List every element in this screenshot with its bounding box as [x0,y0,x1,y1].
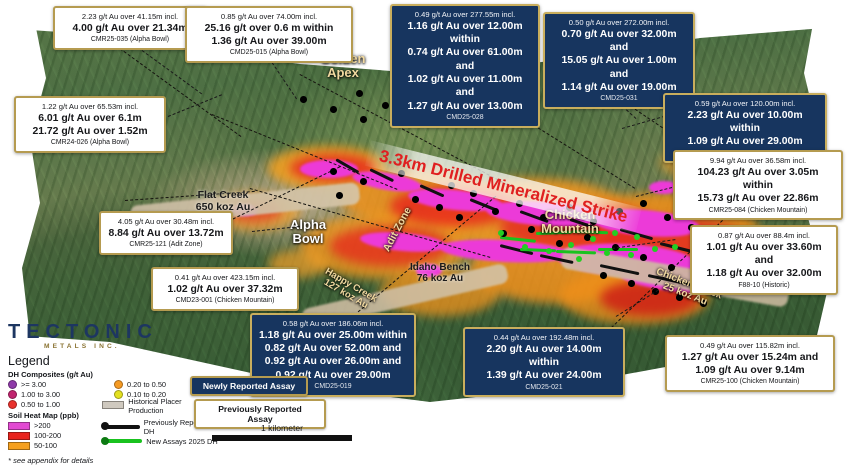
legend-item-soil: >200 [8,421,98,430]
hole-id: CMR25-084 (Chicken Mountain) [682,207,834,216]
hole-id: CMR25-100 (Chicken Mountain) [674,378,826,387]
hole-id: CMD25-021 [472,384,616,393]
assay-line-highlight: 15.05 g/t Au over 1.00m and [552,54,686,81]
assay-line: 0.41 g/t Au over 423.15m incl. [160,273,290,283]
soil-swatch-icon [8,422,30,430]
legend-item-dh: >= 3.00 [8,380,104,389]
assay-line: 0.87 g/t Au over 88.4m incl. [699,231,829,241]
legend-item-soil: 100-200 [8,431,98,440]
assay-line: 0.58 g/t Au over 186.06m incl. [259,319,407,329]
assay-line-highlight: 0.82 g/t Au over 52.00m and [259,342,407,355]
drill-collar-dot [436,204,443,211]
legend-footnote: * see appendix for details [8,456,218,465]
company-logo: TECTONIC METALS INC. [8,322,218,350]
assay-callout-cmr24-026[interactable]: 1.22 g/t Au over 65.53m incl. 6.01 g/t A… [14,96,166,153]
soil-swatch-icon [8,442,30,450]
assay-line-highlight: 1.39 g/t Au over 24.00m [472,369,616,382]
drill-collar-dot [412,196,419,203]
legend-item-dh: 1.00 to 3.00 [8,390,104,399]
assay-line-highlight: 15.73 g/t Au over 22.86m [682,192,834,205]
assay-line: 1.22 g/t Au over 65.53m incl. [23,102,157,112]
assay-line: 0.49 g/t Au over 115.82m incl. [674,341,826,351]
assay-callout-cmr25-121[interactable]: 4.05 g/t Au over 30.48m incl. 8.84 g/t A… [99,211,233,255]
legend-label: 0.50 to 1.00 [21,400,60,409]
scale-bar-line [212,435,352,441]
assay-line-highlight: 0.70 g/t Au over 32.00m and [552,28,686,55]
drill-collar-dot [640,200,647,207]
legend-title: Legend [8,354,218,368]
assay-line-highlight: 6.01 g/t Au over 6.1m [23,112,157,125]
drill-collar-dot [382,102,389,109]
hole-id: CMD25-028 [399,114,531,123]
assay-line-highlight: 2.20 g/t Au over 14.00m within [472,343,616,370]
assay-callout-cmr25-035[interactable]: 2.23 g/t Au over 41.15m incl. 4.00 g/t A… [53,6,207,50]
drill-collar-dot [336,192,343,199]
scale-bar-label: 1 kilometer [212,423,352,433]
dh-swatch-icon [8,380,17,389]
assay-line-highlight: 1.18 g/t Au over 32.00m [699,267,829,280]
assay-callout-cmd25-028[interactable]: 0.49 g/t Au over 277.55m incl. 1.16 g/t … [390,4,540,128]
legend-label: Historical Placer Production [128,397,181,416]
assay-line-highlight: 1.09 g/t Au over 29.00m [672,135,818,148]
assay-line-highlight: 1.02 g/t Au over 11.00m and [399,73,531,100]
drill-collar-dot [600,272,607,279]
assay-line: 0.50 g/t Au over 272.00m incl. [552,18,686,28]
legend-label: 100-200 [34,431,61,440]
assay-line: 0.85 g/t Au over 74.00m incl. [194,12,344,22]
assay-line-highlight: 1.09 g/t Au over 9.14m [674,364,826,377]
assay-line-highlight: 1.01 g/t Au over 33.60m and [699,241,829,268]
hole-id: CMR25-121 (Adit Zone) [108,241,224,250]
assay-line-highlight: 4.00 g/t Au over 21.34m [62,22,198,35]
drill-collar-dot [356,90,363,97]
hole-id: CMR24-026 (Alpha Bowl) [23,139,157,148]
assay-callout-cmr25-084[interactable]: 9.94 g/t Au over 36.58m incl. 104.23 g/t… [673,150,843,220]
drill-collar-dot [330,168,337,175]
assay-line: 0.59 g/t Au over 120.00m incl. [672,99,818,109]
assay-line-highlight: 21.72 g/t Au over 1.52m [23,125,157,138]
assay-line-highlight: 8.84 g/t Au over 13.72m [108,227,224,240]
assay-line: 0.44 g/t Au over 192.48m incl. [472,333,616,343]
assay-line-highlight: 1.02 g/t Au over 37.32m [160,283,290,296]
soil-swatch-icon [8,432,30,440]
hole-id: F88-10 (Historic) [699,282,829,291]
scale-bar: 1 kilometer [212,423,352,441]
legend-item-dh-new: New Assays 2025 DH [102,437,218,446]
dh-swatch-icon [8,390,17,399]
drill-collar-dot [330,106,337,113]
legend-label: 1.00 to 3.00 [21,390,60,399]
placer-swatch-icon [102,401,124,409]
drill-collar-dot [664,214,671,221]
drill-collar-dot [360,178,367,185]
assay-line: 4.05 g/t Au over 30.48m incl. [108,217,224,227]
drill-collar-dot [300,96,307,103]
legend-item-dh: 0.50 to 1.00 [8,400,104,409]
map-label-alpha-bowl: AlphaBowl [272,218,344,247]
drill-collar-dot [456,214,463,221]
assay-line-highlight: 1.18 g/t Au over 25.00m within [259,329,407,342]
legend-panel: TECTONIC METALS INC. Legend DH Composite… [8,322,218,465]
assay-line-highlight: 25.16 g/t over 0.6 m within [194,22,344,35]
assay-callout-cmd23-001[interactable]: 0.41 g/t Au over 423.15m incl. 1.02 g/t … [151,267,299,311]
previous-dh-line-icon [102,425,140,429]
drill-collar-dot [556,240,563,247]
legend-label: New Assays 2025 DH [146,437,217,446]
assay-line: 2.23 g/t Au over 41.15m incl. [62,12,198,22]
assay-line-highlight: 1.27 g/t Au over 15.24m and [674,351,826,364]
legend-section-soil: Soil Heat Map (ppb) [8,411,98,420]
drill-collar-dot [492,208,499,215]
mineral-exploration-map-figure: GoldenApex Flat Creek650 koz Au AlphaBow… [0,0,848,449]
legend-label: >= 3.00 [21,380,46,389]
assay-line-highlight: 0.92 g/t Au over 26.00m and [259,355,407,368]
drill-collar-dot [628,280,635,287]
assay-callout-f88-10[interactable]: 0.87 g/t Au over 88.4m incl. 1.01 g/t Au… [690,225,838,295]
drill-collar-dot [360,116,367,123]
map-label-idaho-bench: Idaho Bench76 koz Au [396,262,484,284]
assay-callout-cmr25-100[interactable]: 0.49 g/t Au over 115.82m incl. 1.27 g/t … [665,335,835,392]
legend-section-dh: DH Composites (g/t Au) [8,370,218,379]
legend-chip-newly-reported-assay[interactable]: Newly Reported Assay [190,376,308,396]
map-label-flat-creek: Flat Creek650 koz Au [180,190,266,213]
dh-swatch-icon [114,380,123,389]
assay-line: 0.49 g/t Au over 277.55m incl. [399,10,531,20]
assay-callout-cmd25-015[interactable]: 0.85 g/t Au over 74.00m incl. 25.16 g/t … [185,6,353,63]
assay-line-highlight: 1.16 g/t Au over 12.00m within [399,20,531,47]
dh-swatch-icon [8,400,17,409]
hole-id: CMR25-035 (Alpha Bowl) [62,36,198,45]
legend-label: 0.20 to 0.50 [127,380,166,389]
assay-line: 9.94 g/t Au over 36.58m incl. [682,156,834,166]
drill-collar-dot [640,254,647,261]
brand-tagline: METALS INC. [44,343,218,350]
brand-name: TECTONIC [8,322,218,342]
new-dh-line-icon [102,439,142,443]
assay-line-highlight: 2.23 g/t Au over 10.00m within [672,109,818,136]
legend-item-dh: 0.20 to 0.50 [114,380,166,389]
assay-line-highlight: 104.23 g/t Au over 3.05m within [682,166,834,193]
assay-callout-cmd25-021[interactable]: 0.44 g/t Au over 192.48m incl. 2.20 g/t … [463,327,625,397]
hole-id: CMD23-001 (Chicken Mountain) [160,297,290,306]
assay-line-highlight: 0.74 g/t Au over 61.00m and [399,46,531,73]
hole-id: CMD25-015 (Alpha Bowl) [194,49,344,58]
assay-line-highlight: 1.27 g/t Au over 13.00m [399,100,531,113]
assay-line-highlight: 1.36 g/t Au over 39.00m [194,35,344,48]
legend-label: >200 [34,421,51,430]
